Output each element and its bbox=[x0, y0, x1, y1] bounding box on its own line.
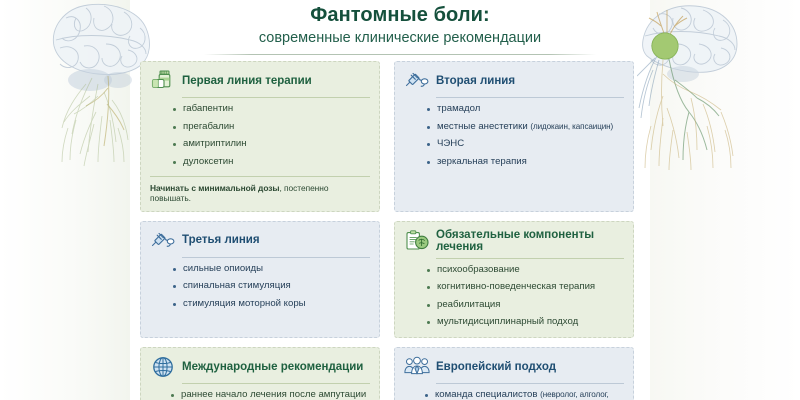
page-title: Фантомные боли: bbox=[0, 4, 800, 27]
list-item: местные анестетики (лидокаин, капсаицин) bbox=[426, 121, 624, 134]
card-header: Третья линия bbox=[150, 229, 370, 257]
card-item-list: раннее начало лечения после ампутации ко… bbox=[170, 389, 370, 400]
card-title: Европейский подход bbox=[436, 361, 556, 374]
card-footer-note: Начинать с минимальной дозы, постепенно … bbox=[150, 176, 370, 203]
item-subnote: (лидокаин, капсаицин) bbox=[530, 122, 613, 131]
item-text: когнитивно-поведенческая терапия bbox=[437, 281, 595, 292]
card-second-line[interactable]: Вторая линия трамадол местные анестетики… bbox=[394, 61, 634, 211]
card-title: Международные рекомендации bbox=[182, 361, 363, 374]
list-item: ЧЭНС bbox=[426, 138, 624, 151]
page-subtitle: современные клинические рекомендации bbox=[0, 30, 800, 47]
footer-emphasis: Начинать с минимальной дозы bbox=[150, 183, 280, 193]
card-third-line[interactable]: Третья линия сильные опиоиды спинальная … bbox=[140, 221, 380, 339]
card-header: Вторая линия bbox=[404, 69, 624, 97]
item-text: команда специалистов bbox=[435, 389, 540, 400]
team-of-people-icon bbox=[404, 355, 430, 379]
right-background-wash bbox=[650, 0, 800, 400]
card-header: Обязательные компоненты лечения bbox=[404, 229, 624, 258]
list-item: дулоксетин bbox=[172, 156, 370, 169]
header-divider bbox=[204, 54, 596, 55]
card-header: Международные рекомендации bbox=[150, 355, 370, 383]
card-mandatory-components[interactable]: Обязательные компоненты лечения психообр… bbox=[394, 221, 634, 339]
card-european-approach[interactable]: Европейский подход команда специалистов … bbox=[394, 347, 634, 400]
card-item-list: габапентин прегабалин амитриптилин дулок… bbox=[172, 103, 370, 168]
list-item: прегабалин bbox=[172, 121, 370, 134]
list-item: мультидисциплинарный подход bbox=[426, 316, 624, 329]
recommendation-card-grid: Первая линия терапии габапентин прегабал… bbox=[140, 61, 660, 400]
item-text: дулоксетин bbox=[183, 156, 233, 167]
card-title-divider bbox=[182, 97, 370, 98]
item-text: психообразование bbox=[437, 264, 520, 275]
list-item: стимуляция моторной коры bbox=[172, 298, 370, 311]
list-item: спинальная стимуляция bbox=[172, 280, 370, 293]
item-text: сильные опиоиды bbox=[183, 263, 263, 274]
list-item: психообразование bbox=[426, 264, 624, 277]
card-title-divider bbox=[182, 257, 370, 258]
card-header: Европейский подход bbox=[404, 355, 624, 383]
card-title-divider bbox=[182, 383, 370, 384]
item-text: мультидисциплинарный подход bbox=[437, 316, 578, 327]
card-title-divider bbox=[436, 258, 624, 259]
item-text: реабилитация bbox=[437, 299, 501, 310]
card-title: Первая линия терапии bbox=[182, 75, 312, 88]
card-item-list: команда специалистов (невролог, алголог,… bbox=[424, 389, 624, 400]
item-text: зеркальная терапия bbox=[437, 156, 527, 167]
item-text: габапентин bbox=[183, 103, 233, 114]
item-text: трамадол bbox=[437, 103, 480, 114]
list-item: трамадол bbox=[426, 103, 624, 116]
list-item: габапентин bbox=[172, 103, 370, 116]
card-header: Первая линия терапии bbox=[150, 69, 370, 97]
list-item: амитриптилин bbox=[172, 138, 370, 151]
clipboard-brain-icon bbox=[404, 229, 430, 253]
card-title-divider bbox=[436, 97, 624, 98]
card-title-divider bbox=[436, 383, 624, 384]
item-text: местные анестетики bbox=[437, 121, 530, 132]
card-international-recommendations[interactable]: Международные рекомендации раннее начало… bbox=[140, 347, 380, 400]
list-item: реабилитация bbox=[426, 299, 624, 312]
card-first-line-therapy[interactable]: Первая линия терапии габапентин прегабал… bbox=[140, 61, 380, 211]
page-header: Фантомные боли: современные клинические … bbox=[0, 0, 800, 55]
card-title: Третья линия bbox=[182, 234, 260, 247]
list-item: зеркальная терапия bbox=[426, 156, 624, 169]
item-text: ЧЭНС bbox=[437, 138, 464, 149]
list-item: раннее начало лечения после ампутации bbox=[170, 389, 370, 400]
list-item: команда специалистов (невролог, алголог,… bbox=[424, 389, 624, 400]
card-item-list: трамадол местные анестетики (лидокаин, к… bbox=[426, 103, 624, 168]
pill-bottle-icon bbox=[150, 69, 176, 93]
item-text: амитриптилин bbox=[183, 138, 247, 149]
card-title: Вторая линия bbox=[436, 75, 515, 88]
item-text: спинальная стимуляция bbox=[183, 280, 291, 291]
left-background-wash bbox=[0, 0, 130, 400]
syringe-icon bbox=[404, 69, 430, 93]
card-item-list: сильные опиоиды спинальная стимуляция ст… bbox=[172, 263, 370, 311]
card-item-list: психообразование когнитивно-поведенческа… bbox=[426, 264, 624, 329]
syringe-icon bbox=[150, 229, 176, 253]
globe-icon bbox=[150, 355, 176, 379]
list-item: когнитивно-поведенческая терапия bbox=[426, 281, 624, 294]
card-title: Обязательные компоненты лечения bbox=[436, 229, 624, 254]
list-item: сильные опиоиды bbox=[172, 263, 370, 276]
item-text: стимуляция моторной коры bbox=[183, 298, 306, 309]
item-text: раннее начало лечения после ампутации bbox=[181, 389, 366, 400]
item-text: прегабалин bbox=[183, 121, 234, 132]
